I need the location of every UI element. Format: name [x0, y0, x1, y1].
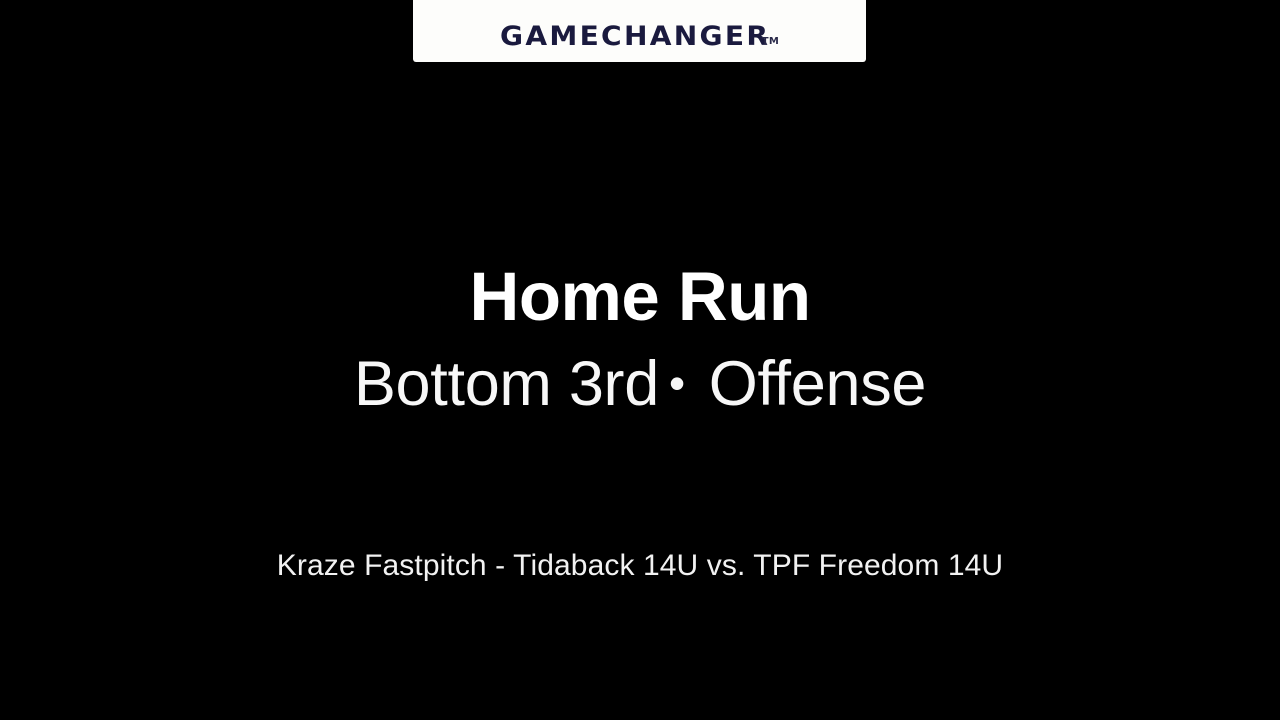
trademark-icon: TM — [762, 37, 779, 47]
play-summary: Home Run Bottom 3rd•Offense — [0, 262, 1280, 416]
logo-lockup: GAMECHANGER TM — [500, 23, 779, 50]
game-matchup-caption: Kraze Fastpitch - Tidaback 14U vs. TPF F… — [0, 548, 1280, 584]
play-inning: Bottom 3rd — [354, 349, 659, 419]
play-context-line: Bottom 3rd•Offense — [0, 353, 1280, 416]
play-side: Offense — [709, 349, 926, 419]
gamechanger-wordmark: GAMECHANGER — [500, 23, 770, 50]
play-result-title: Home Run — [0, 262, 1280, 331]
gamechanger-logo-badge: GAMECHANGER TM — [413, 0, 866, 62]
context-separator-icon: • — [669, 360, 685, 406]
play-result-card: GAMECHANGER TM Home Run Bottom 3rd•Offen… — [0, 0, 1280, 720]
